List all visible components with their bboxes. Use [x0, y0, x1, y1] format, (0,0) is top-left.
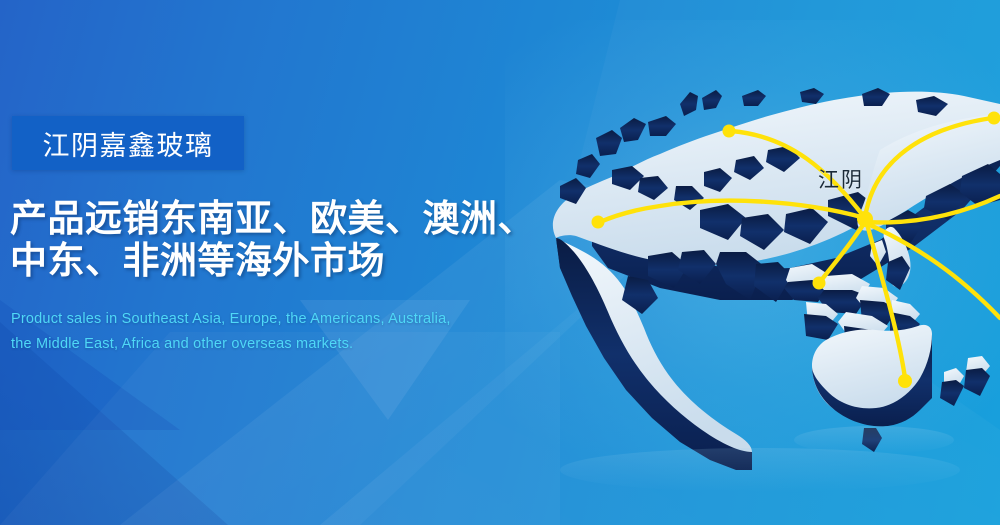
- endpoint-americas: [592, 216, 605, 229]
- headline-line-2: 中东、非洲等海外市场: [10, 240, 555, 282]
- endpoint-far-east: [988, 112, 1000, 125]
- endpoint-europe: [723, 125, 736, 138]
- company-name-text: 江阴嘉鑫玻璃: [43, 124, 214, 163]
- subheadline: Product sales in Southeast Asia, Europe,…: [11, 307, 556, 357]
- endpoint-australia: [898, 374, 912, 388]
- subheadline-line-2: the Middle East, Africa and other overse…: [11, 332, 556, 357]
- banner-copy: 江阴嘉鑫玻璃 产品远销东南亚、欧美、澳洲、 中东、非洲等海外市场 Product…: [0, 0, 560, 525]
- subheadline-line-1: Product sales in Southeast Asia, Europe,…: [11, 307, 556, 332]
- hub-marker-jiangyin: [857, 211, 873, 227]
- headline: 产品远销东南亚、欧美、澳洲、 中东、非洲等海外市场: [10, 198, 555, 282]
- company-name-badge: 江阴嘉鑫玻璃: [12, 116, 244, 170]
- map-city-label: 江阴: [818, 164, 864, 194]
- headline-line-1: 产品远销东南亚、欧美、澳洲、: [10, 198, 555, 240]
- endpoint-southeast-asia: [813, 277, 826, 290]
- promo-banner: 江阴 江阴嘉鑫玻璃 产品远销东南亚、欧美、澳洲、 中东、非洲等海外市场 Prod…: [0, 0, 1000, 525]
